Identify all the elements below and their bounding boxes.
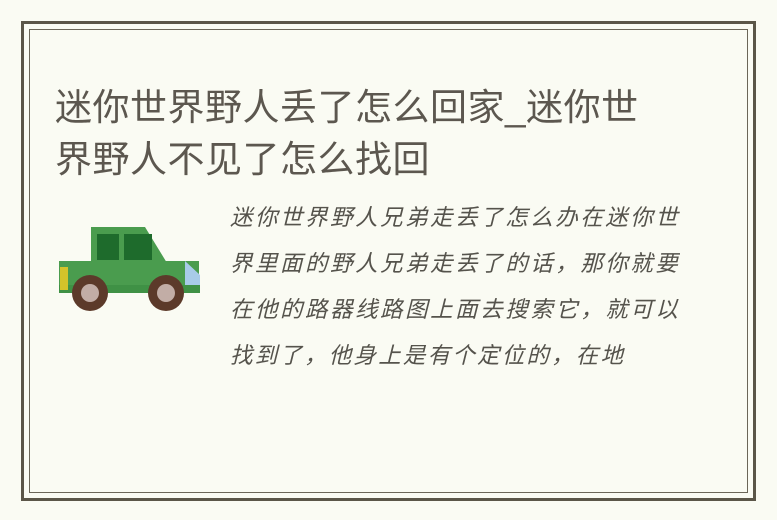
page-title: 迷你世界野人丢了怎么回家_迷你世界野人不见了怎么找回	[55, 82, 665, 187]
car-illustration-icon	[55, 205, 215, 315]
article-thumbnail	[55, 205, 215, 315]
article-card: 迷你世界野人丢了怎么回家_迷你世界野人不见了怎么找回	[0, 0, 777, 520]
card-content: 迷你世界野人丢了怎么回家_迷你世界野人不见了怎么找回	[30, 30, 747, 492]
article-body-area: 迷你世界野人兄弟走丢了怎么办在迷你世界里面的野人兄弟走丢了的话，那你就要在他的路…	[30, 195, 747, 492]
article-body-text: 迷你世界野人兄弟走丢了怎么办在迷你世界里面的野人兄弟走丢了的话，那你就要在他的路…	[230, 195, 680, 460]
